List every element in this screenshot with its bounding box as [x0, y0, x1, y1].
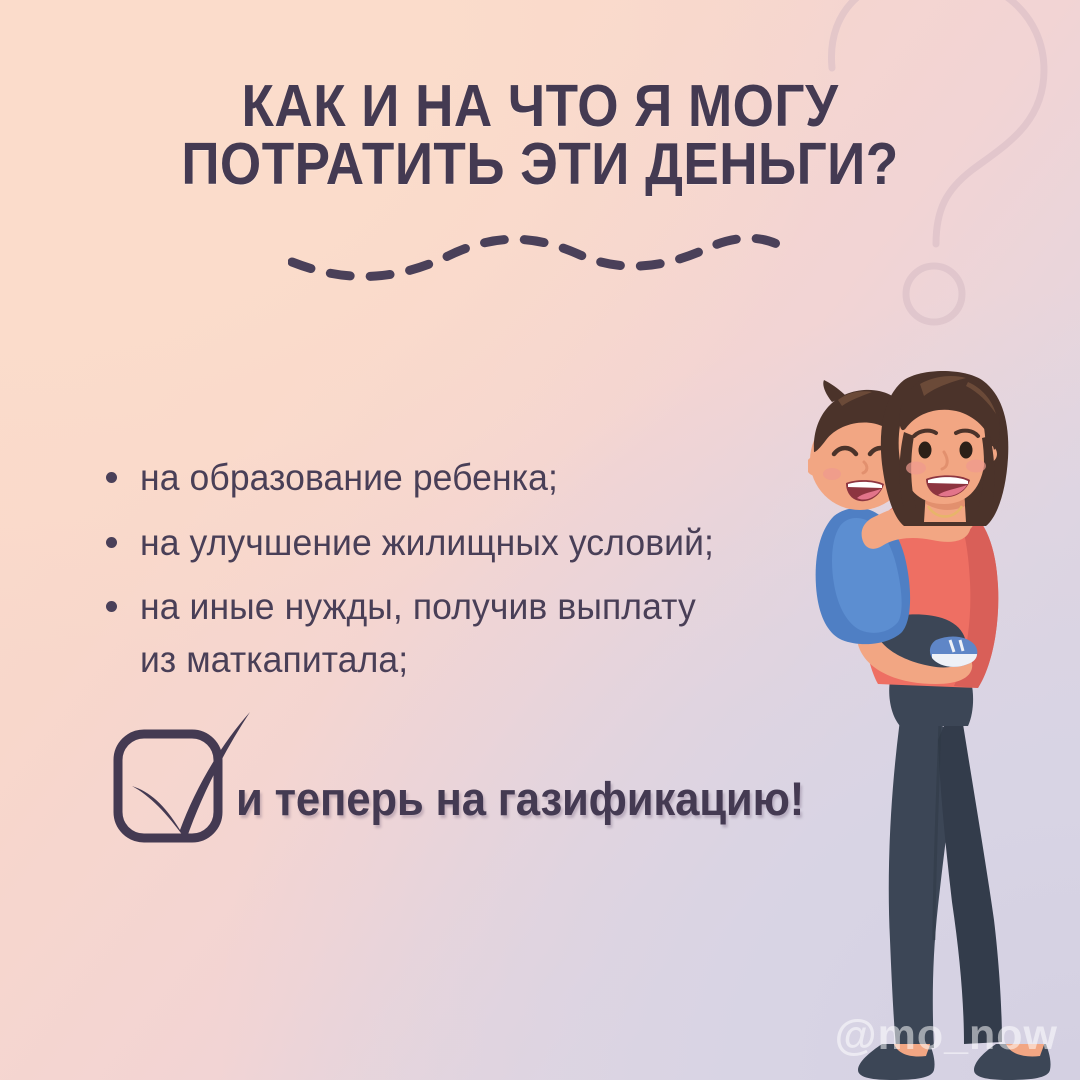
bullet-dot-icon [106, 472, 117, 483]
list-item: на иные нужды, получив выплату из маткап… [100, 581, 880, 686]
list-item: на улучшение жилищных условий; [100, 517, 880, 570]
list-item-label: на улучшение жилищных условий; [140, 517, 714, 570]
bullet-dot-icon [106, 601, 117, 612]
list-item: на образование ребенка; [100, 452, 880, 505]
mother-holding-child-illustration [808, 340, 1080, 1080]
dashed-wave-divider [288, 222, 788, 284]
poster-canvas: КАК И НА ЧТО Я МОГУ ПОТРАТИТЬ ЭТИ ДЕНЬГИ… [0, 0, 1080, 1080]
page-title: КАК И НА ЧТО Я МОГУ ПОТРАТИТЬ ЭТИ ДЕНЬГИ… [54, 78, 1026, 194]
list-item-label: на иные нужды, получив выплату из маткап… [140, 581, 696, 686]
highlight-label: и теперь на газификацию! [236, 771, 804, 826]
benefits-list: на образование ребенка; на улучшение жил… [100, 452, 880, 698]
highlight-row: и теперь на газификацию! [108, 700, 847, 850]
list-item-label: на образование ребенка; [140, 452, 558, 505]
bullet-dot-icon [106, 537, 117, 548]
